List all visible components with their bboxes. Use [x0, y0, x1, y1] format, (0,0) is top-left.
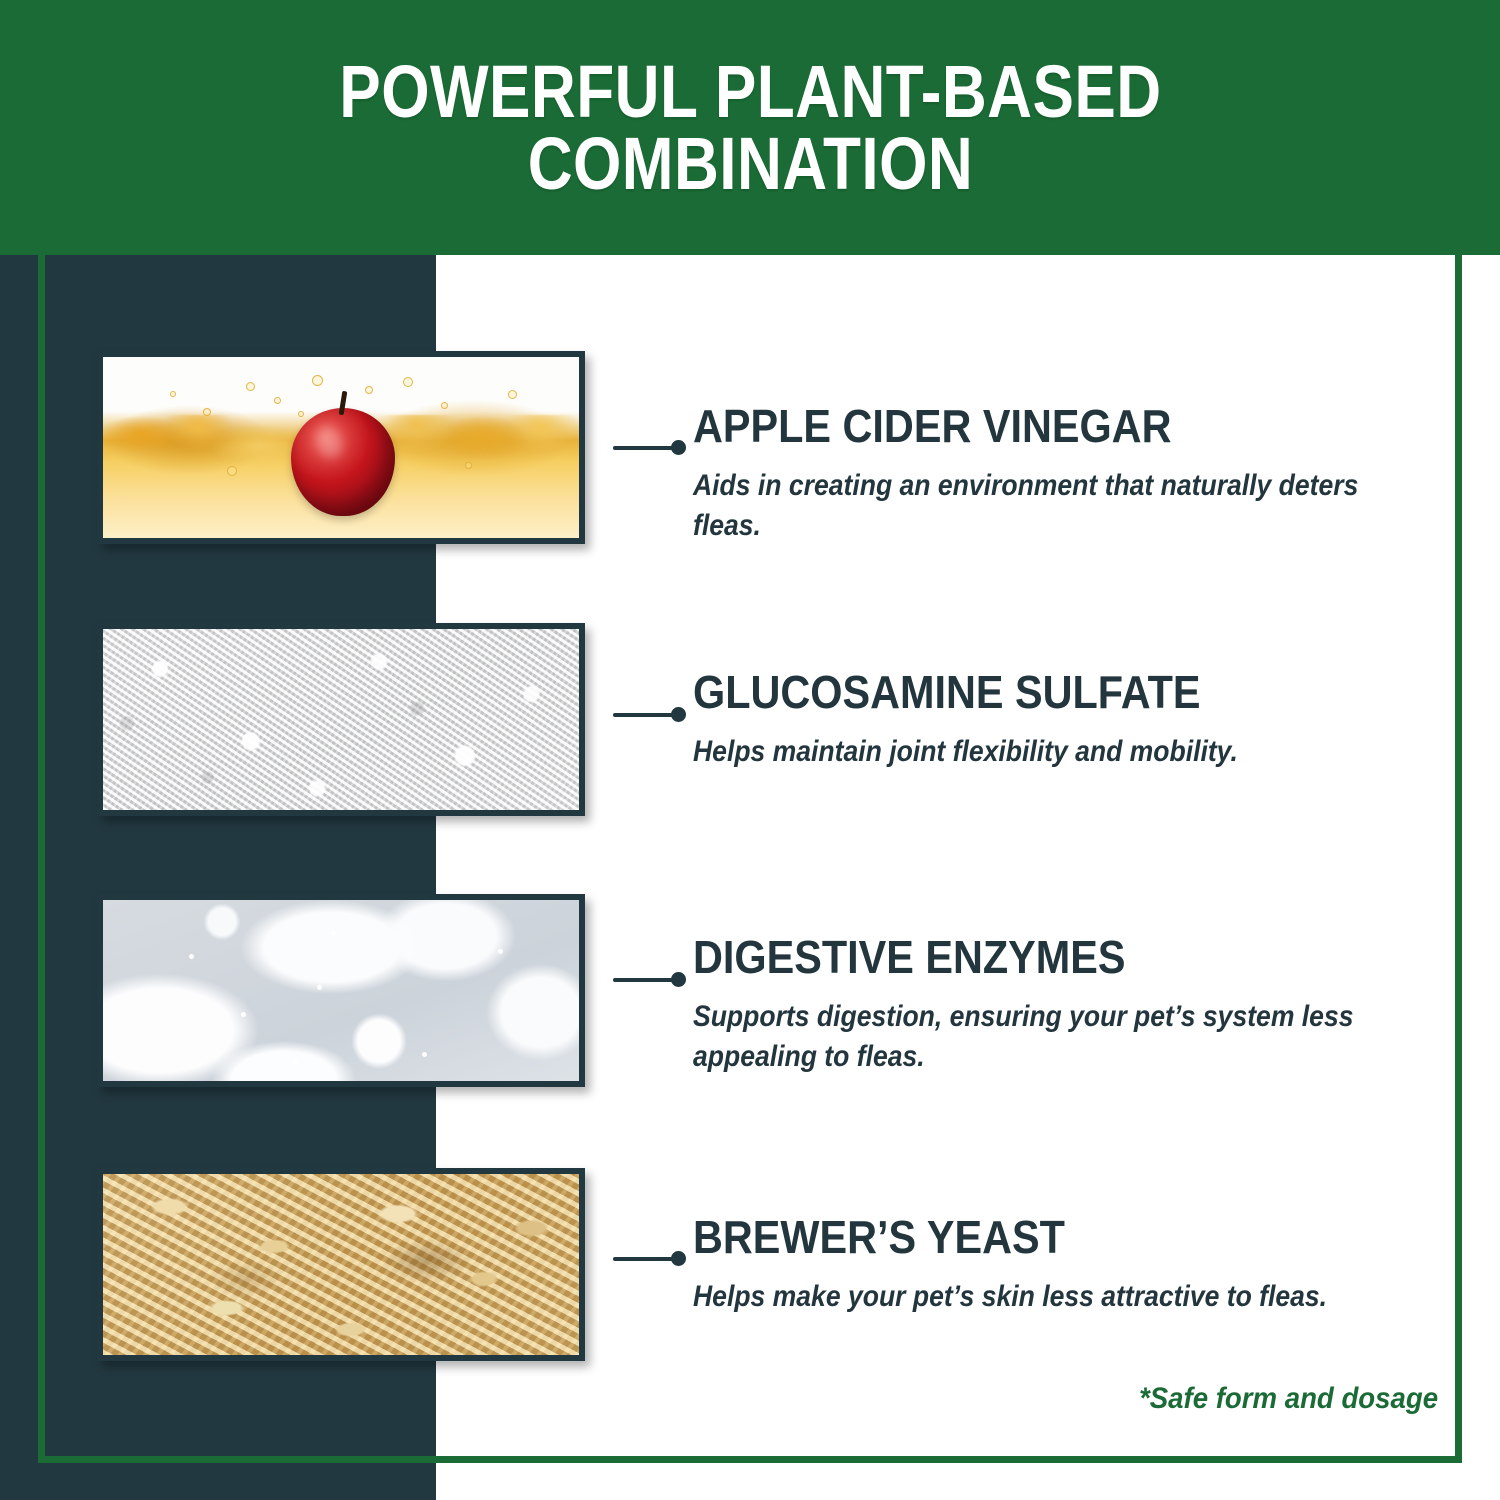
header-band: POWERFUL PLANT-BASED COMBINATION — [0, 0, 1500, 255]
ingredient-description: Helps maintain joint flexibility and mob… — [693, 732, 1431, 772]
footnote-safe-form-dosage: *Safe form and dosage — [1139, 1382, 1438, 1416]
frame-border-bottom — [38, 1456, 1462, 1463]
ingredient-row-apple-cider-vinegar: APPLE CIDER VINEGAR Aids in creating an … — [0, 351, 1500, 556]
brewers-yeast-photo — [97, 1168, 585, 1361]
connector-line-icon — [613, 1251, 686, 1266]
ingredient-text-apple-cider-vinegar: APPLE CIDER VINEGAR Aids in creating an … — [693, 403, 1433, 546]
ingredient-description: Helps make your pet’s skin less attracti… — [693, 1277, 1431, 1317]
ingredient-title: DIGESTIVE ENZYMES — [693, 934, 1359, 981]
connector-line-icon — [613, 972, 686, 987]
ingredient-row-glucosamine-sulfate: GLUCOSAMINE SULFATE Helps maintain joint… — [0, 623, 1500, 817]
ingredient-description: Supports digestion, ensuring your pet’s … — [693, 997, 1431, 1077]
ingredient-title: APPLE CIDER VINEGAR — [693, 403, 1359, 450]
ingredient-row-brewers-yeast: BREWER’S YEAST Helps make your pet’s ski… — [0, 1168, 1500, 1362]
connector-line-icon — [613, 440, 686, 455]
ingredient-description: Aids in creating an environment that nat… — [693, 466, 1431, 546]
ingredient-text-glucosamine-sulfate: GLUCOSAMINE SULFATE Helps maintain joint… — [693, 669, 1433, 772]
page-title: POWERFUL PLANT-BASED COMBINATION — [339, 56, 1161, 200]
ingredient-title: BREWER’S YEAST — [693, 1214, 1359, 1261]
ingredient-title: GLUCOSAMINE SULFATE — [693, 669, 1359, 716]
ingredient-row-digestive-enzymes: DIGESTIVE ENZYMES Supports digestion, en… — [0, 894, 1500, 1088]
infographic-canvas: POWERFUL PLANT-BASED COMBINATION — [0, 0, 1500, 1500]
connector-line-icon — [613, 707, 686, 722]
glucosamine-sulfate-photo — [97, 623, 585, 816]
ingredient-text-brewers-yeast: BREWER’S YEAST Helps make your pet’s ski… — [693, 1214, 1433, 1317]
apple-cider-vinegar-photo — [97, 351, 585, 544]
ingredient-text-digestive-enzymes: DIGESTIVE ENZYMES Supports digestion, en… — [693, 934, 1433, 1077]
digestive-enzymes-photo — [97, 894, 585, 1087]
